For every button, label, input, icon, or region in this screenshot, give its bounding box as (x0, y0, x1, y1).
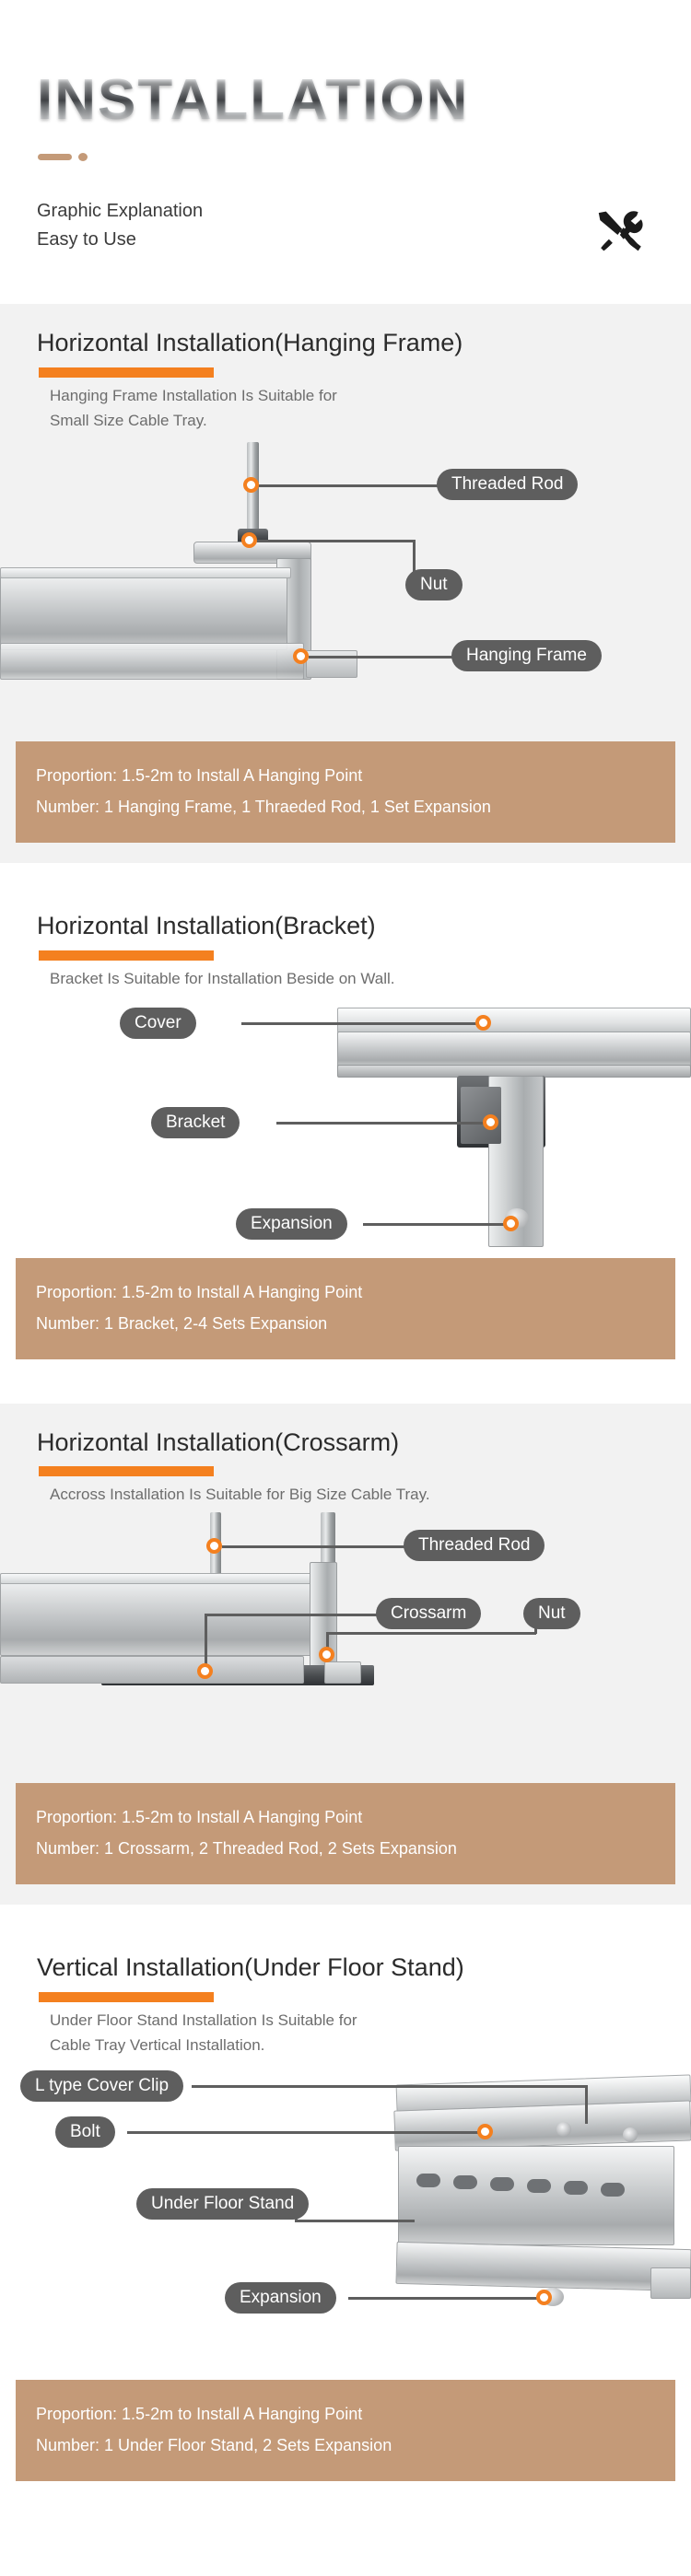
section-hanging-frame: Horizontal Installation(Hanging Frame) H… (0, 304, 691, 863)
section-description: Bracket Is Suitable for Installation Bes… (37, 966, 654, 991)
footer-proportion: Proportion: 1.5-2m to Install A Hanging … (36, 2398, 655, 2430)
footer-bar-crossarm: Proportion: 1.5-2m to Install A Hanging … (16, 1783, 675, 1884)
callout-marker-bracket (483, 1114, 498, 1130)
callout-marker-threaded-rod (243, 477, 259, 493)
tray-cover-part (337, 1008, 691, 1033)
section-header: Horizontal Installation(Hanging Frame) H… (0, 304, 691, 433)
description-line-1: Under Floor Stand Installation Is Suitab… (50, 2008, 654, 2033)
tray-perforation (453, 2175, 477, 2189)
tray-perforation (416, 2174, 440, 2187)
callout-line-nut-top (257, 540, 416, 542)
callout-label-threaded-rod: Threaded Rod (404, 1530, 545, 1561)
cable-tray-lip (0, 567, 291, 578)
callout-label-hanging-frame: Hanging Frame (451, 640, 602, 671)
section-title: Horizontal Installation(Hanging Frame) (37, 328, 654, 359)
footer-number: Number: 1 Hanging Frame, 1 Thraeded Rod,… (36, 791, 655, 822)
diagram-crossarm: Threaded Rod Crossarm Nut (0, 1507, 691, 1783)
callout-label-crossarm: Crossarm (376, 1598, 481, 1629)
bolt-head-part (556, 2122, 571, 2137)
callout-label-expansion: Expansion (236, 1208, 347, 1240)
callout-label-cover: Cover (120, 1008, 196, 1039)
description-line-2: Small Size Cable Tray. (50, 408, 654, 433)
section-header: Vertical Installation(Under Floor Stand)… (0, 1929, 691, 2057)
callout-marker-hanging-frame (293, 648, 309, 664)
section-header: Horizontal Installation(Bracket) Bracket… (0, 887, 691, 991)
callout-line-expansion (363, 1223, 507, 1226)
callout-line-threaded-rod (259, 484, 443, 487)
section-title: Vertical Installation(Under Floor Stand) (37, 1952, 654, 1984)
section-under-floor-stand: Vertical Installation(Under Floor Stand)… (0, 1929, 691, 2481)
page-title: INSTALLATION (37, 72, 469, 129)
callout-line-threaded-rod (222, 1545, 410, 1548)
callout-label-bolt: Bolt (55, 2116, 115, 2148)
callout-line-nut (326, 1632, 536, 1635)
tray-body-part (337, 1032, 691, 1068)
footer-proportion: Proportion: 1.5-2m to Install A Hanging … (36, 1801, 655, 1833)
callout-label-nut: Nut (405, 569, 463, 600)
footer-number: Number: 1 Crossarm, 2 Threaded Rod, 2 Se… (36, 1833, 655, 1864)
footer-proportion: Proportion: 1.5-2m to Install A Hanging … (36, 760, 655, 791)
section-bottom-gap (0, 843, 691, 863)
tray-perforation (490, 2177, 514, 2191)
footer-proportion: Proportion: 1.5-2m to Install A Hanging … (36, 1276, 655, 1308)
tray-perforation (601, 2183, 625, 2197)
cable-tray-base (0, 643, 304, 680)
footer-bar-under-floor-stand: Proportion: 1.5-2m to Install A Hanging … (16, 2380, 675, 2481)
cable-tray-lip (0, 1573, 328, 1584)
callout-line-hanging-frame (309, 656, 458, 659)
crossarm-end-cap (324, 1661, 361, 1684)
callout-line-expansion (348, 2297, 540, 2300)
callout-marker-nut (241, 532, 257, 548)
callout-line-l-type-cover-clip-top (192, 2085, 588, 2088)
callout-marker-cover (475, 1015, 491, 1031)
section-header: Horizontal Installation(Crossarm) Accros… (0, 1404, 691, 1508)
section-title: Horizontal Installation(Crossarm) (37, 1428, 654, 1459)
cable-tray-side-flange (306, 650, 357, 678)
description-line-2: Cable Tray Vertical Installation. (50, 2033, 654, 2057)
stand-base-part (395, 2242, 691, 2291)
section-accent-bar (39, 1992, 214, 2002)
under-floor-stand-part (398, 2146, 674, 2245)
section-accent-bar (39, 1466, 214, 1476)
callout-line-under-floor-stand (295, 2220, 415, 2222)
stand-foot-plate (650, 2267, 691, 2299)
cable-tray-base (0, 1656, 304, 1684)
description-line-1: Bracket Is Suitable for Installation Bes… (50, 966, 654, 991)
section-description: Under Floor Stand Installation Is Suitab… (37, 2008, 654, 2057)
subtitle-line-1: Graphic Explanation (37, 197, 203, 226)
header-subtitle: Graphic Explanation Easy to Use (37, 197, 203, 254)
description-line-1: Accross Installation Is Suitable for Big… (50, 1482, 654, 1507)
section-crossarm: Horizontal Installation(Crossarm) Accros… (0, 1404, 691, 1906)
tray-perforation (527, 2179, 551, 2193)
footer-bar-bracket: Proportion: 1.5-2m to Install A Hanging … (16, 1258, 675, 1359)
bolt-head-part (623, 2127, 638, 2142)
description-line-1: Hanging Frame Installation Is Suitable f… (50, 383, 654, 408)
footer-bar-hanging-frame: Proportion: 1.5-2m to Install A Hanging … (16, 741, 675, 843)
decorative-dashes (38, 153, 88, 161)
dash-dot (78, 153, 88, 161)
section-description: Hanging Frame Installation Is Suitable f… (37, 383, 654, 433)
page-header: INSTALLATION INSTALLATION Graphic Explan… (0, 0, 691, 304)
cable-tray-body (0, 571, 287, 650)
callout-marker-expansion (503, 1216, 519, 1231)
callout-marker-bolt (477, 2124, 493, 2139)
section-title: Horizontal Installation(Bracket) (37, 911, 654, 942)
section-bottom-gap (0, 1884, 691, 1905)
bracket-gusset (461, 1087, 501, 1144)
callout-line-crossarm-riser (205, 1614, 207, 1671)
diagram-hanging-frame: Threaded Rod Nut Hanging Frame (0, 433, 691, 741)
section-accent-bar (39, 950, 214, 961)
page-title-wrap: INSTALLATION (37, 72, 469, 129)
section-accent-bar (39, 367, 214, 378)
callout-marker-expansion (536, 2290, 552, 2305)
cable-tray-body (0, 1577, 324, 1656)
callout-label-under-floor-stand: Under Floor Stand (136, 2188, 309, 2220)
callout-label-l-type-cover-clip: L type Cover Clip (20, 2070, 183, 2102)
footer-number: Number: 1 Bracket, 2-4 Sets Expansion (36, 1308, 655, 1339)
footer-number: Number: 1 Under Floor Stand, 2 Sets Expa… (36, 2430, 655, 2461)
installation-infographic: INSTALLATION INSTALLATION Graphic Explan… (0, 0, 691, 2576)
callout-label-expansion: Expansion (225, 2282, 336, 2314)
callout-line-cover (241, 1022, 479, 1025)
callout-line-l-type-cover-clip-drop (585, 2085, 588, 2124)
callout-line-bolt (127, 2131, 483, 2134)
diagram-under-floor-stand: L type Cover Clip Bolt Under Floor Stand… (0, 2057, 691, 2380)
section-description: Accross Installation Is Suitable for Big… (37, 1482, 654, 1507)
callout-line-bracket (276, 1122, 486, 1125)
dash-long (38, 154, 72, 160)
subtitle-line-2: Easy to Use (37, 226, 203, 254)
tools-icon (595, 210, 643, 252)
callout-label-nut: Nut (523, 1598, 580, 1629)
tray-perforation (564, 2181, 588, 2195)
section-bottom-gap (0, 1359, 691, 1380)
callout-label-threaded-rod: Threaded Rod (437, 469, 578, 500)
callout-label-bracket: Bracket (151, 1107, 240, 1138)
callout-line-crossarm (205, 1614, 383, 1616)
section-bracket: Horizontal Installation(Bracket) Bracket… (0, 887, 691, 1380)
diagram-bracket: Cover Bracket Expansion (0, 991, 691, 1258)
